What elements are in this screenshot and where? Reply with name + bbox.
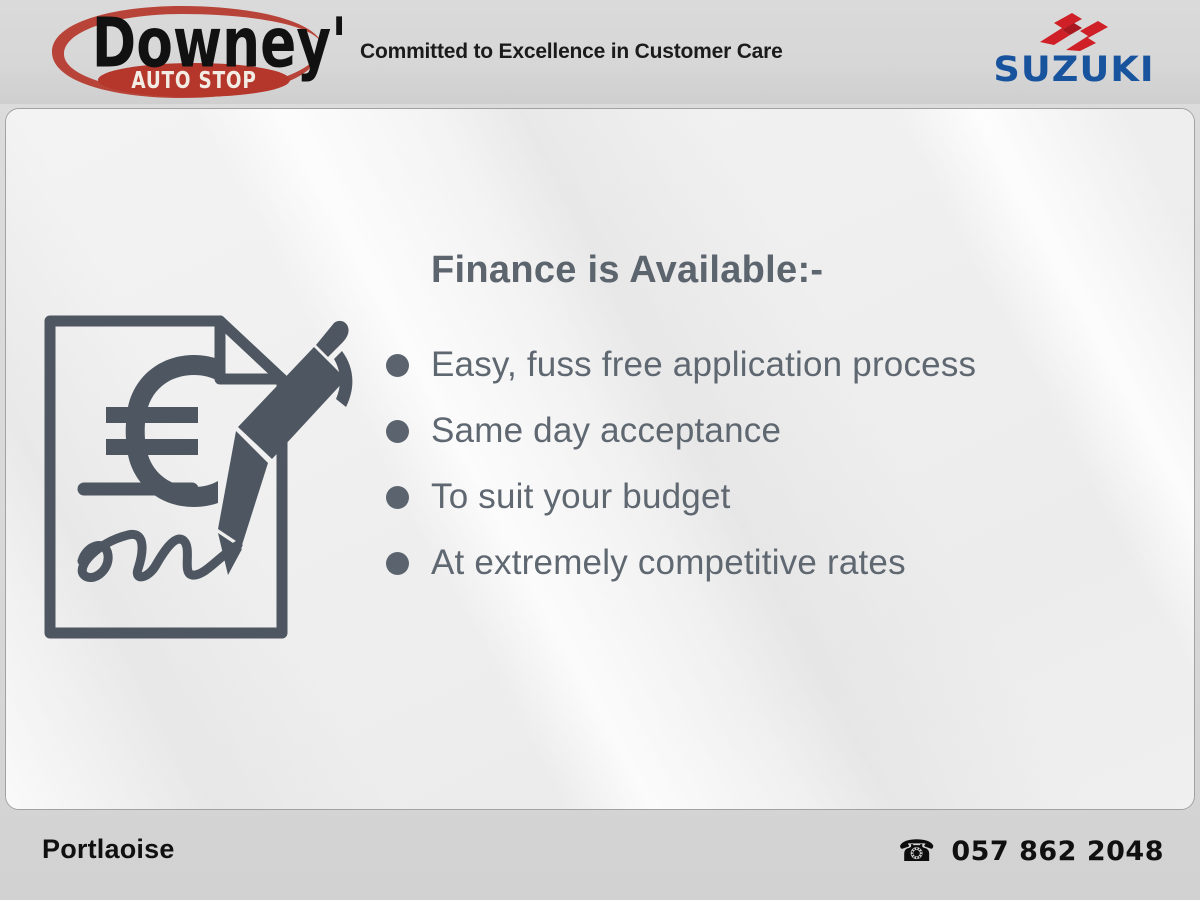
page-title: Finance is Available:- (431, 249, 1171, 292)
list-item: At extremely competitive rates (386, 530, 1171, 596)
list-item-label: At extremely competitive rates (431, 543, 906, 583)
finance-benefits-list: Easy, fuss free application process Same… (431, 332, 1171, 596)
list-item: Easy, fuss free application process (386, 332, 1171, 398)
bullet-dot-icon (386, 552, 409, 575)
phone-contact[interactable]: ☎ 057 862 2048 (898, 836, 1164, 867)
downeys-auto-stop-logo[interactable]: AUTO STOP Downey's (22, 4, 342, 100)
page-footer: Portlaoise ☎ 057 862 2048 (0, 812, 1200, 900)
euro-contract-icon-graphic (42, 307, 362, 647)
list-item-label: Same day acceptance (431, 411, 781, 451)
finance-card: Finance is Available:- Easy, fuss free a… (5, 108, 1195, 810)
bullet-dot-icon (386, 420, 409, 443)
suzuki-logo[interactable]: SUZUKI (984, 12, 1164, 94)
location-label: Portlaoise (42, 834, 175, 865)
list-item-label: Easy, fuss free application process (431, 345, 976, 385)
header-tagline: Committed to Excellence in Customer Care (360, 40, 783, 64)
euro-contract-signing-icon (42, 307, 362, 647)
brand-logo-graphic: AUTO STOP Downey's (22, 4, 342, 100)
advert-page: AUTO STOP Downey's Committed to Excellen… (0, 0, 1200, 900)
finance-content: Finance is Available:- Easy, fuss free a… (431, 249, 1171, 596)
suzuki-wordmark: SUZUKI (980, 50, 1169, 90)
page-header: AUTO STOP Downey's Committed to Excellen… (0, 0, 1200, 104)
list-item: To suit your budget (386, 464, 1171, 530)
suzuki-s-emblem-icon (1032, 12, 1116, 52)
telephone-icon: ☎ (898, 837, 935, 867)
bullet-dot-icon (386, 486, 409, 509)
svg-text:Downey's: Downey's (92, 4, 342, 83)
list-item: Same day acceptance (386, 398, 1171, 464)
bullet-dot-icon (386, 354, 409, 377)
phone-number[interactable]: 057 862 2048 (951, 836, 1164, 867)
list-item-label: To suit your budget (431, 477, 731, 517)
